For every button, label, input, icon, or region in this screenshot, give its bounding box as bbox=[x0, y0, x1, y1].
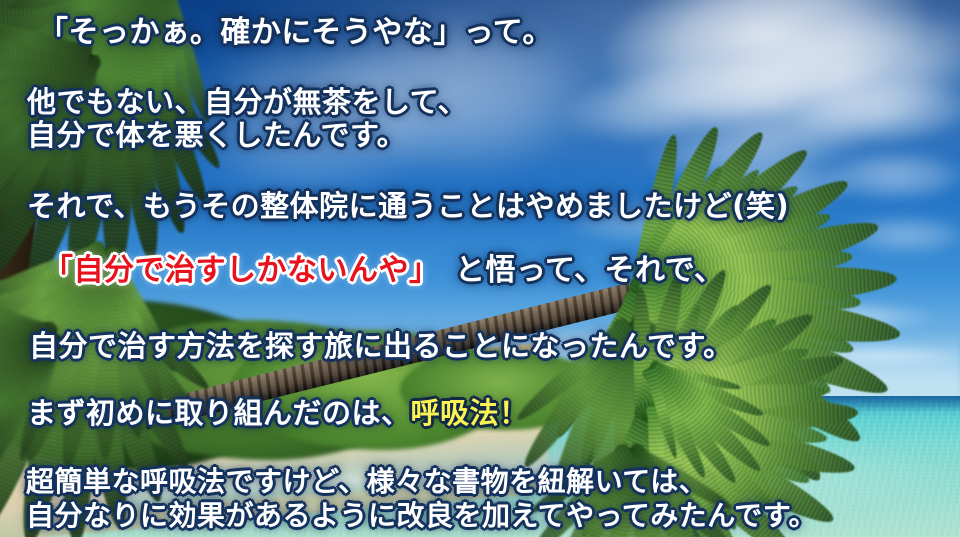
caption-segment-white: 自分なりに効果があるように改良を加えてやってみたんです。 bbox=[26, 499, 817, 532]
caption-line-7: まず初めに取り組んだのは、呼吸法！ bbox=[27, 399, 529, 428]
caption-segment-white: 自分で治す方法を探す旅に出ることになったんです。 bbox=[29, 329, 733, 363]
caption-line-8: 超簡単な呼吸法ですけど、様々な書物を紐解いては、 bbox=[26, 468, 707, 496]
caption-segment-red: 「自分で治すしかないんや」 bbox=[43, 253, 425, 288]
caption-segment-white: と悟って、それで、 bbox=[425, 253, 725, 288]
caption-segment-white: 他でもない、自分が無茶をして、 bbox=[27, 85, 467, 119]
caption-segment-yellow: 呼吸法！ bbox=[411, 396, 529, 430]
caption-line-3: 自分で体を悪くしたんです。 bbox=[27, 121, 406, 150]
caption-segment-white: 超簡単な呼吸法ですけど、様々な書物を紐解いては、 bbox=[26, 465, 707, 498]
caption-text-layer: 「そっかぁ。確かにそうやな」って。他でもない、自分が無茶をして、自分で体を悪くし… bbox=[0, 0, 960, 537]
caption-line-5: 「自分で治すしかないんや」 と悟って、それで、 bbox=[43, 256, 724, 286]
caption-segment-white: それで、もうその整体院に通うことはやめましたけど(笑) bbox=[27, 189, 789, 223]
caption-line-6: 自分で治す方法を探す旅に出ることになったんです。 bbox=[29, 332, 733, 361]
caption-line-9: 自分なりに効果があるように改良を加えてやってみたんです。 bbox=[26, 502, 817, 530]
caption-line-2: 他でもない、自分が無茶をして、 bbox=[27, 88, 467, 117]
caption-line-4: それで、もうその整体院に通うことはやめましたけど(笑) bbox=[27, 192, 789, 221]
caption-segment-white: 「そっかぁ。確かにそうやな」って。 bbox=[38, 15, 553, 50]
caption-segment-white: まず初めに取り組んだのは、 bbox=[27, 396, 411, 430]
caption-segment-white: 自分で体を悪くしたんです。 bbox=[27, 118, 406, 152]
slide-canvas: 「そっかぁ。確かにそうやな」って。他でもない、自分が無茶をして、自分で体を悪くし… bbox=[0, 0, 960, 537]
caption-line-1: 「そっかぁ。確かにそうやな」って。 bbox=[38, 18, 553, 48]
